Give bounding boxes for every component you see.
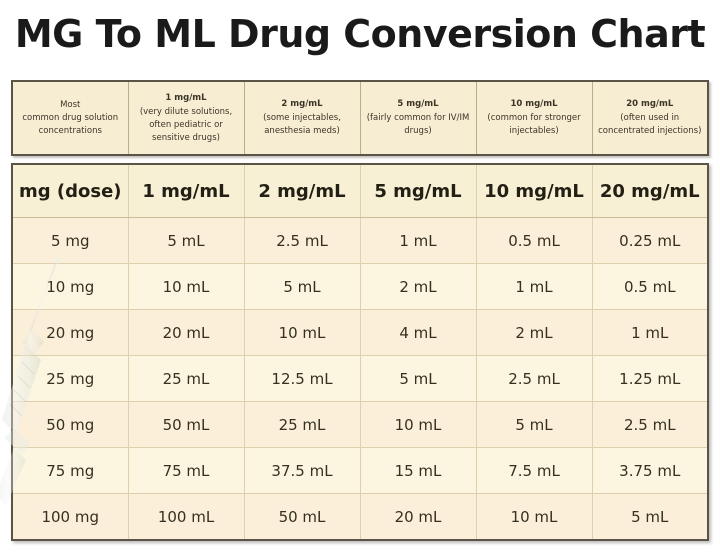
column-header: 1 mg/mL: [128, 164, 244, 218]
volume-cell: 20 mL: [360, 494, 476, 541]
volume-cell: 5 mL: [360, 356, 476, 402]
volume-cell: 75 mL: [128, 448, 244, 494]
description-cell-note-line: common drug solution: [18, 112, 123, 125]
volume-cell: 25 mL: [244, 402, 360, 448]
column-header: 10 mg/mL: [476, 164, 592, 218]
description-cell: 20 mg/mL(often used inconcentrated injec…: [592, 81, 708, 155]
volume-cell: 20 mL: [128, 310, 244, 356]
volume-cell: 0.5 mL: [592, 264, 708, 310]
volume-cell: 15 mL: [360, 448, 476, 494]
description-cell-note-line: (fairly common for IV/IM: [366, 112, 471, 125]
volume-cell: 0.5 mL: [476, 218, 592, 264]
conversion-table-body: 5 mg5 mL2.5 mL1 mL0.5 mL0.25 mL10 mg10 m…: [12, 218, 708, 541]
volume-cell: 50 mL: [128, 402, 244, 448]
volume-cell: 50 mL: [244, 494, 360, 541]
volume-cell: 5 mL: [128, 218, 244, 264]
volume-cell: 37.5 mL: [244, 448, 360, 494]
volume-cell: 5 mL: [476, 402, 592, 448]
volume-cell: 10 mL: [244, 310, 360, 356]
description-cell-note-line: Most: [18, 99, 123, 112]
description-cell-note-line: (common for stronger: [482, 112, 587, 125]
volume-cell: 2 mL: [476, 310, 592, 356]
volume-cell: 100 mL: [128, 494, 244, 541]
volume-cell: 5 mL: [244, 264, 360, 310]
dose-cell: 100 mg: [12, 494, 128, 541]
description-cell: 5 mg/mL(fairly common for IV/IMdrugs): [360, 81, 476, 155]
description-cell-heading: 10 mg/mL: [482, 98, 587, 111]
volume-cell: 10 mL: [128, 264, 244, 310]
table-row: 10 mg10 mL5 mL2 mL1 mL0.5 mL: [12, 264, 708, 310]
volume-cell: 2.5 mL: [592, 402, 708, 448]
volume-cell: 1 mL: [476, 264, 592, 310]
table-row: 5 mg5 mL2.5 mL1 mL0.5 mL0.25 mL: [12, 218, 708, 264]
page-title: MG To ML Drug Conversion Chart: [0, 8, 720, 60]
description-cell-note-line: injectables): [482, 125, 587, 138]
description-cell: 2 mg/mL(some injectables,anesthesia meds…: [244, 81, 360, 155]
dose-cell: 5 mg: [12, 218, 128, 264]
description-cell-heading: 5 mg/mL: [366, 98, 471, 111]
dose-cell: 75 mg: [12, 448, 128, 494]
volume-cell: 10 mL: [360, 402, 476, 448]
chart-page: MG To ML Drug Conversion Chart Mostcommo…: [0, 0, 720, 556]
description-cell-note-line: (often used in: [598, 112, 703, 125]
table-row: 50 mg50 mL25 mL10 mL5 mL2.5 mL: [12, 402, 708, 448]
volume-cell: 2.5 mL: [244, 218, 360, 264]
description-cell-note-line: concentrated injections): [598, 125, 703, 138]
description-cell-note-line: often pediatric or: [134, 119, 239, 132]
volume-cell: 10 mL: [476, 494, 592, 541]
table-row: 20 mg20 mL10 mL4 mL2 mL1 mL: [12, 310, 708, 356]
volume-cell: 7.5 mL: [476, 448, 592, 494]
volume-cell: 1.25 mL: [592, 356, 708, 402]
table-row: 25 mg25 mL12.5 mL5 mL2.5 mL1.25 mL: [12, 356, 708, 402]
description-cell-heading: 20 mg/mL: [598, 98, 703, 111]
description-cell-note-line: (very dilute solutions,: [134, 106, 239, 119]
description-cell: 10 mg/mL(common for strongerinjectables): [476, 81, 592, 155]
dose-cell: 50 mg: [12, 402, 128, 448]
dose-cell: 20 mg: [12, 310, 128, 356]
volume-cell: 0.25 mL: [592, 218, 708, 264]
table-row: 75 mg75 mL37.5 mL15 mL7.5 mL3.75 mL: [12, 448, 708, 494]
conversion-header-row: mg (dose)1 mg/mL2 mg/mL5 mg/mL10 mg/mL20…: [12, 164, 708, 218]
column-header: 5 mg/mL: [360, 164, 476, 218]
description-cell-note-line: drugs): [366, 125, 471, 138]
volume-cell: 2.5 mL: [476, 356, 592, 402]
description-cell: Mostcommon drug solutionconcentrations: [12, 81, 128, 155]
column-header: 20 mg/mL: [592, 164, 708, 218]
description-cell-note-line: anesthesia meds): [250, 125, 355, 138]
conversion-table-head: mg (dose)1 mg/mL2 mg/mL5 mg/mL10 mg/mL20…: [12, 164, 708, 218]
volume-cell: 1 mL: [592, 310, 708, 356]
volume-cell: 12.5 mL: [244, 356, 360, 402]
description-cell: 1 mg/mL(very dilute solutions,often pedi…: [128, 81, 244, 155]
volume-cell: 5 mL: [592, 494, 708, 541]
description-cell-note-line: (some injectables,: [250, 112, 355, 125]
description-table-body: Mostcommon drug solutionconcentrations1 …: [12, 81, 708, 155]
dose-cell: 25 mg: [12, 356, 128, 402]
volume-cell: 4 mL: [360, 310, 476, 356]
volume-cell: 2 mL: [360, 264, 476, 310]
column-header: mg (dose): [12, 164, 128, 218]
column-header: 2 mg/mL: [244, 164, 360, 218]
concentration-description-table: Mostcommon drug solutionconcentrations1 …: [11, 80, 709, 156]
description-cell-heading: 1 mg/mL: [134, 92, 239, 105]
description-row: Mostcommon drug solutionconcentrations1 …: [12, 81, 708, 155]
conversion-table: mg (dose)1 mg/mL2 mg/mL5 mg/mL10 mg/mL20…: [11, 163, 709, 541]
table-row: 100 mg100 mL50 mL20 mL10 mL5 mL: [12, 494, 708, 541]
dose-cell: 10 mg: [12, 264, 128, 310]
description-cell-heading: 2 mg/mL: [250, 98, 355, 111]
description-cell-note-line: concentrations: [18, 125, 123, 138]
volume-cell: 1 mL: [360, 218, 476, 264]
volume-cell: 3.75 mL: [592, 448, 708, 494]
volume-cell: 25 mL: [128, 356, 244, 402]
description-cell-note-line: sensitive drugs): [134, 132, 239, 145]
